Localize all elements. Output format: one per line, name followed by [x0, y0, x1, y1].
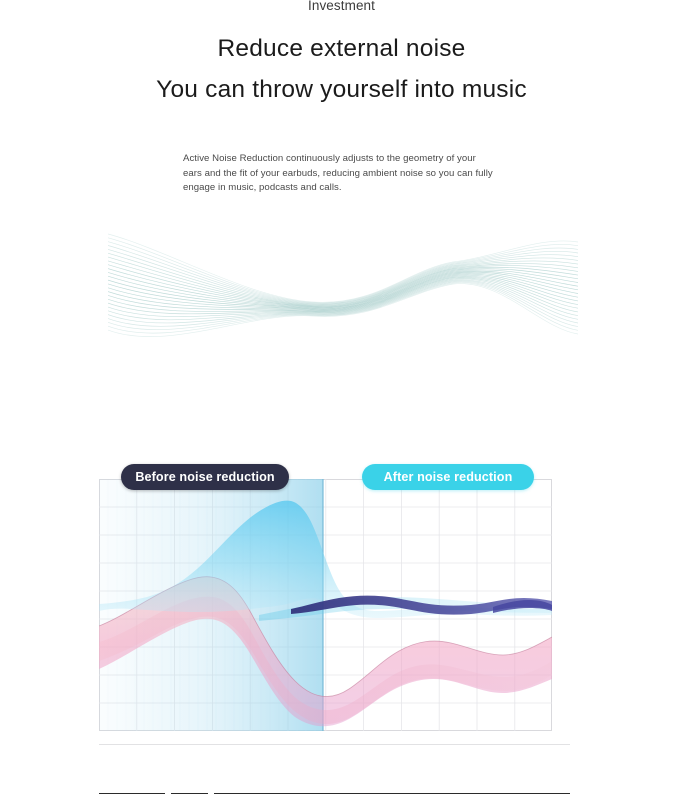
noise-comparison-chart [99, 479, 552, 731]
bottom-rule-gap-2 [208, 793, 214, 794]
body-paragraph: Active Noise Reduction continuously adju… [183, 152, 493, 196]
page-title: Reduce external noise [0, 33, 683, 65]
bottom-rule-gap-1 [165, 793, 171, 794]
after-noise-reduction-pill[interactable]: After noise reduction [362, 464, 534, 490]
eyebrow-label: Investment [0, 0, 683, 14]
flowing-line-wave-graphic [108, 228, 578, 373]
page-subtitle: You can throw yourself into music [0, 74, 683, 106]
section-divider [99, 744, 570, 745]
chart-plot-area [99, 479, 552, 731]
before-noise-reduction-pill[interactable]: Before noise reduction [121, 464, 289, 490]
